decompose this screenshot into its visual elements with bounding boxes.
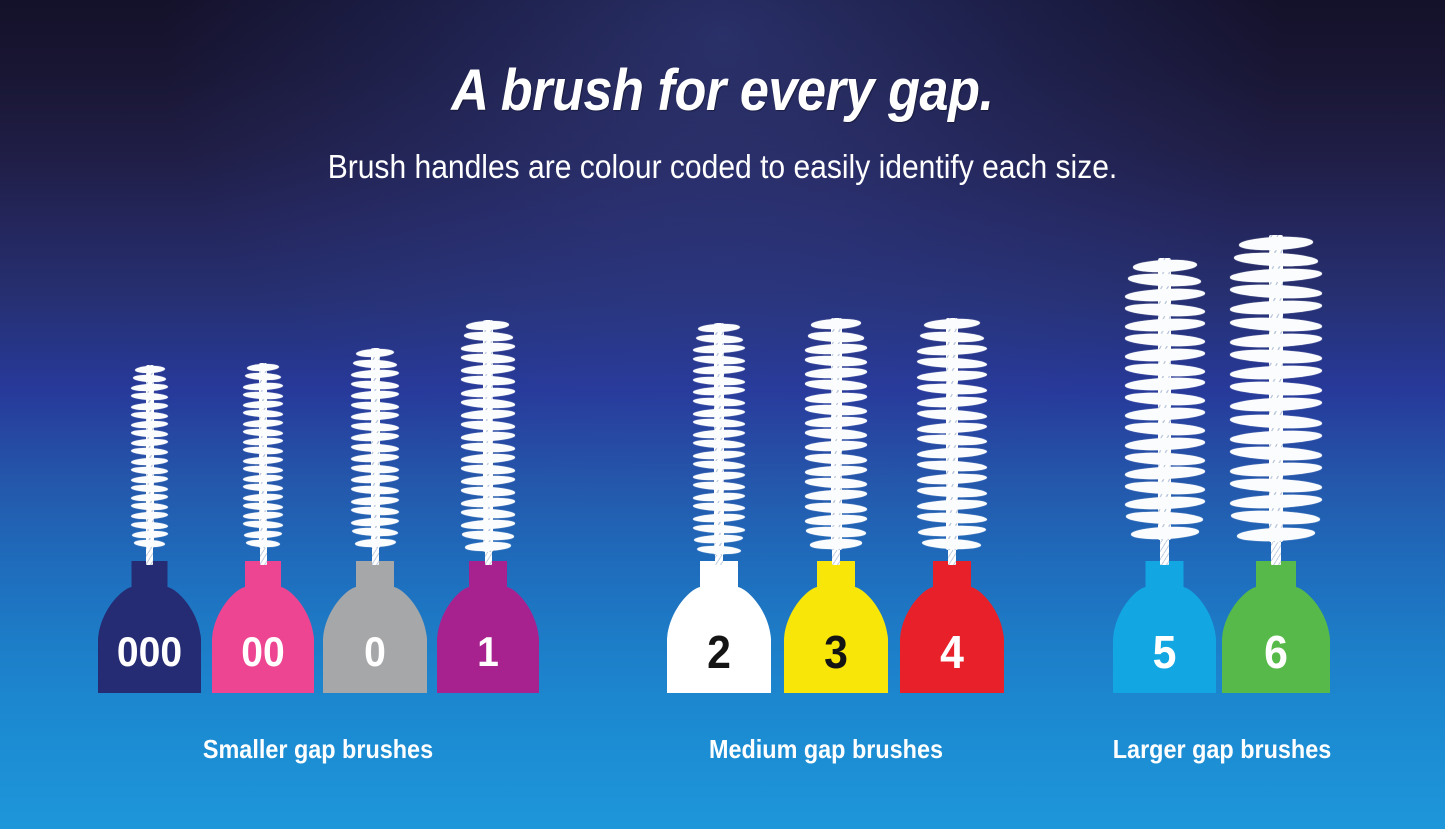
bristle-disk: [351, 369, 399, 379]
bristle-disk: [810, 538, 863, 550]
bristle-disk: [806, 526, 866, 538]
bristle-disk: [461, 475, 515, 486]
bristle-disk: [351, 380, 399, 390]
bristle-disk: [917, 370, 987, 383]
bristle-disk: [1128, 273, 1201, 288]
bristle-disk: [131, 429, 168, 438]
bristle-disk: [1230, 364, 1322, 380]
bristle-disk: [1126, 510, 1204, 525]
bristle-disk: [805, 465, 867, 477]
bristle-disk: [917, 421, 987, 434]
bristle-disk: [461, 420, 515, 431]
bristle-disk: [917, 511, 987, 524]
infographic-canvas: A brush for every gap. Brush handles are…: [0, 0, 1445, 829]
bristle-disk: [1124, 317, 1204, 332]
bristle-disk: [131, 402, 168, 411]
bristle-disk: [917, 460, 987, 473]
brush-handle-2[interactable]: 2: [667, 561, 771, 693]
bristle-disk: [1124, 377, 1204, 392]
bristle-disk: [131, 521, 168, 530]
bristle-disk: [805, 428, 867, 440]
bristle-disk: [243, 511, 283, 520]
bristle-disk: [805, 379, 867, 391]
bristle-disk: [693, 460, 745, 470]
group-label-medium: Medium gap brushes: [691, 734, 961, 765]
group-label-smaller: Smaller gap brushes: [183, 734, 453, 765]
bristle-disk: [245, 373, 281, 382]
bristle-disk: [132, 530, 168, 539]
bristle-disk: [461, 364, 515, 375]
bristle-disk: [133, 374, 167, 383]
bristle-disk: [131, 493, 168, 502]
bristle-disk: [1230, 332, 1322, 348]
bristle-disk: [351, 443, 399, 453]
bristle-disk: [1124, 302, 1204, 317]
bristle-disk: [131, 466, 168, 475]
bristle-disk: [246, 539, 280, 548]
brush-head-2: [693, 323, 745, 555]
bristle-disk: [917, 434, 987, 447]
bristle-disk: [697, 545, 741, 555]
brush-head-4: [917, 318, 987, 550]
bristle-disk: [465, 541, 511, 552]
brush-unit-00[interactable]: 00: [212, 692, 314, 693]
bristle-disk: [134, 539, 166, 547]
bristle-disk: [351, 464, 399, 474]
bristle-disk: [131, 420, 168, 429]
brush-unit-0[interactable]: 0: [323, 692, 427, 693]
brush-head-0: [351, 348, 399, 548]
bristle-disk: [693, 492, 745, 502]
bristle-disk: [243, 419, 283, 428]
bristle-disk: [805, 342, 867, 354]
bristle-disk: [1230, 493, 1322, 509]
brush-handle-4[interactable]: 4: [900, 561, 1004, 693]
bristle-disk: [924, 318, 980, 330]
bristle-disk: [1230, 348, 1322, 364]
brush-unit-000[interactable]: 000: [98, 692, 201, 693]
bristle-disk: [805, 367, 867, 379]
bristle-disk: [805, 440, 867, 452]
bristle-disk: [918, 524, 987, 537]
handle-shape-000: [98, 561, 201, 693]
bristle-disk: [1124, 392, 1204, 407]
bristle-disk: [461, 386, 515, 397]
bristle-disk: [461, 375, 515, 386]
brush-handle-5[interactable]: 5: [1113, 561, 1216, 693]
bristle-disk: [1230, 413, 1322, 429]
brush-head-1: [461, 320, 515, 552]
brush-head-5: [1125, 258, 1205, 540]
bristle-disk: [693, 439, 745, 449]
bristle-disk: [131, 457, 168, 466]
bristle-disk: [243, 520, 283, 529]
bristle-disk: [355, 538, 396, 548]
bristle-disk: [461, 353, 515, 364]
bristle-disk: [1124, 347, 1204, 362]
bristle-disk: [351, 517, 399, 527]
bristle-disk: [461, 486, 515, 497]
bristle-disk: [243, 456, 283, 465]
bristle-disk: [805, 355, 867, 367]
brush-handle-6[interactable]: 6: [1222, 561, 1330, 693]
bristle-disk: [917, 486, 987, 499]
bristle-disk: [464, 331, 513, 342]
brush-handle-0[interactable]: 0: [323, 561, 427, 693]
bristle-disk: [917, 395, 987, 408]
bristle-disk: [917, 447, 987, 460]
bristle-disk: [352, 527, 399, 537]
bristle-disk: [805, 391, 867, 403]
bristle-disk: [247, 363, 279, 372]
brush-unit-5[interactable]: 5: [1113, 692, 1216, 693]
bristle-disk: [1230, 477, 1322, 493]
bristle-disk: [1231, 510, 1321, 526]
bristle-disk: [351, 496, 399, 506]
bristle-disk: [243, 382, 283, 391]
bristle-disk: [131, 448, 168, 457]
bristle-disk: [1230, 396, 1322, 412]
bristle-disk: [131, 384, 168, 393]
bristle-disk: [351, 506, 399, 516]
bristle-disk: [693, 513, 745, 523]
bristle-disk: [461, 408, 515, 419]
bristle-disk: [1124, 362, 1204, 377]
bristle-disk: [1230, 316, 1322, 332]
bristle-disk: [353, 359, 397, 369]
page-title: A brush for every gap.: [72, 57, 1373, 124]
bristle-disk: [1132, 258, 1196, 272]
handle-shape-6: [1222, 561, 1330, 693]
bristle-disk: [1230, 380, 1322, 396]
bristle-disk: [1124, 421, 1204, 436]
bristle-disk: [131, 438, 168, 447]
bristle-disk: [1124, 466, 1204, 481]
bristle-disk: [351, 390, 399, 400]
bristle-disk: [1124, 332, 1204, 347]
bristle-disk: [351, 422, 399, 432]
bristle-disk: [805, 489, 867, 501]
bristle-disk: [356, 348, 395, 358]
bristle-disk: [243, 465, 283, 474]
brush-handle-1[interactable]: 1: [437, 561, 539, 693]
bristle-disk: [131, 475, 168, 484]
bristle-disk: [131, 512, 168, 521]
bristle-disk: [693, 407, 745, 417]
brush-handle-00[interactable]: 00: [212, 561, 314, 693]
brush-unit-1[interactable]: 1: [437, 692, 539, 693]
bristle-disk: [917, 408, 987, 421]
bristle-disk: [1230, 445, 1322, 461]
bristle-disk: [811, 318, 861, 330]
bristle-disk: [243, 493, 283, 502]
bristle-disk: [1124, 495, 1204, 510]
group-label-larger: Larger gap brushes: [1087, 734, 1357, 765]
bristle-disk: [805, 501, 867, 513]
bristle-disk: [461, 342, 515, 353]
bristle-disk: [461, 453, 515, 464]
bristle-disk: [693, 450, 745, 460]
bristle-disk: [243, 474, 283, 483]
brush-head-00: [243, 363, 283, 548]
bristle-disk: [135, 365, 165, 373]
bristle-disk: [805, 513, 867, 525]
bristle-disk: [805, 477, 867, 489]
bristle-disk: [805, 416, 867, 428]
bristle-disk: [917, 344, 987, 357]
bristle-disk: [922, 537, 982, 550]
bristle-disk: [1124, 406, 1204, 421]
bristle-disk: [461, 442, 515, 453]
bristle-disk: [243, 409, 283, 418]
brush-unit-2[interactable]: 2: [667, 692, 771, 693]
bristle-disk: [466, 320, 510, 330]
bristle-disk: [461, 431, 515, 442]
bristle-disk: [1234, 251, 1318, 267]
handle-shape-0: [323, 561, 427, 693]
handle-shape-5: [1113, 561, 1216, 693]
brush-unit-3[interactable]: 3: [784, 692, 888, 693]
brush-unit-4[interactable]: 4: [900, 692, 1004, 693]
bristle-disk: [917, 357, 987, 370]
handle-shape-00: [212, 561, 314, 693]
handle-shape-1: [437, 561, 539, 693]
bristle-disk: [693, 376, 745, 386]
bristle-disk: [693, 397, 745, 407]
bristle-disk: [243, 428, 283, 437]
bristle-disk: [920, 331, 985, 344]
bristle-disk: [693, 523, 745, 533]
bristle-disk: [131, 484, 168, 493]
bristle-disk: [1124, 481, 1204, 496]
bristle-disk: [693, 344, 745, 354]
bristle-disk: [696, 334, 743, 344]
bristle-disk: [131, 411, 168, 420]
bristle-disk: [462, 530, 514, 541]
bristle-disk: [243, 502, 283, 511]
bristle-disk: [461, 519, 515, 530]
bristle-disk: [1124, 436, 1204, 451]
bristle-disk: [917, 498, 987, 511]
bristle-disk: [131, 502, 168, 511]
bristle-disk: [694, 534, 744, 544]
bristle-disk: [693, 418, 745, 428]
bristle-disk: [917, 382, 987, 395]
bristle-disk: [243, 400, 283, 409]
brush-handle-3[interactable]: 3: [784, 561, 888, 693]
bristle-disk: [808, 330, 865, 342]
bristle-disk: [461, 497, 515, 508]
brush-handle-000[interactable]: 000: [98, 561, 201, 693]
bristle-disk: [1124, 451, 1204, 466]
bristle-disk: [1124, 288, 1204, 303]
bristle-disk: [243, 446, 283, 455]
bristle-disk: [1230, 299, 1322, 315]
bristle-disk: [1239, 235, 1313, 251]
bristle-disk: [917, 473, 987, 486]
bristle-disk: [693, 471, 745, 481]
bristle-disk: [243, 483, 283, 492]
bristle-disk: [351, 485, 399, 495]
bristle-disk: [805, 404, 867, 416]
bristle-disk: [693, 355, 745, 365]
bristle-disk: [461, 508, 515, 519]
bristle-disk: [243, 391, 283, 400]
bristle-disk: [805, 452, 867, 464]
handle-shape-3: [784, 561, 888, 693]
brush-head-000: [131, 365, 168, 548]
bristle-disk: [244, 530, 283, 539]
bristle-disk: [698, 323, 740, 333]
page-subtitle: Brush handles are colour coded to easily…: [65, 148, 1380, 186]
bristle-disk: [461, 464, 515, 475]
bristle-disk: [461, 397, 515, 408]
bristle-disk: [243, 437, 283, 446]
brush-head-3: [805, 318, 867, 550]
handle-shape-4: [900, 561, 1004, 693]
bristle-disk: [351, 411, 399, 421]
bristle-disk: [1230, 461, 1322, 477]
bristle-disk: [1130, 525, 1198, 539]
bristle-disk: [1237, 526, 1315, 542]
bristle-disk: [693, 429, 745, 439]
brush-unit-6[interactable]: 6: [1222, 692, 1330, 693]
bristle-disk: [1230, 283, 1322, 299]
handle-shape-2: [667, 561, 771, 693]
bristle-disk: [1230, 267, 1322, 283]
brush-head-6: [1230, 235, 1322, 542]
bristle-disk: [1230, 429, 1322, 445]
bristle-disk: [351, 401, 399, 411]
